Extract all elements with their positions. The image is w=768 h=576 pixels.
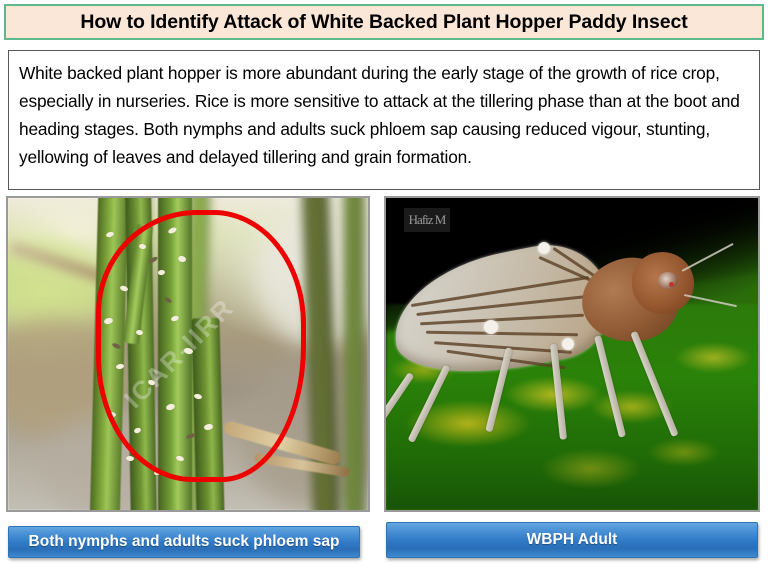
figure-right-caption-text: WBPH Adult	[527, 531, 618, 549]
wax-spot	[484, 320, 498, 334]
figure-left-caption-text: Both nymphs and adults suck phloem sap	[29, 533, 340, 551]
description-box: White backed plant hopper is more abunda…	[8, 50, 760, 190]
insect-eye	[658, 272, 678, 289]
figure-right-caption[interactable]: WBPH Adult	[386, 522, 758, 558]
wax-spot	[538, 242, 550, 254]
figure-right-image: Hafiz M	[386, 198, 758, 510]
insect-eye-highlight	[669, 282, 674, 287]
slide-title-box: How to Identify Attack of White Backed P…	[4, 4, 764, 40]
figure-left-nymphs-on-stems: ICAR-IIRR	[6, 196, 370, 512]
annotation-circle	[96, 210, 306, 482]
rice-stem-background	[344, 198, 364, 510]
figure-right-wbph-adult: Hafiz M	[384, 196, 760, 512]
description-text: White backed plant hopper is more abunda…	[19, 59, 749, 171]
page-title: How to Identify Attack of White Backed P…	[80, 11, 687, 34]
figure-right-watermark: Hafiz M	[404, 208, 450, 232]
figure-left-image: ICAR-IIRR	[8, 198, 368, 510]
wax-spot	[562, 338, 574, 350]
figure-left-caption[interactable]: Both nymphs and adults suck phloem sap	[8, 526, 360, 558]
